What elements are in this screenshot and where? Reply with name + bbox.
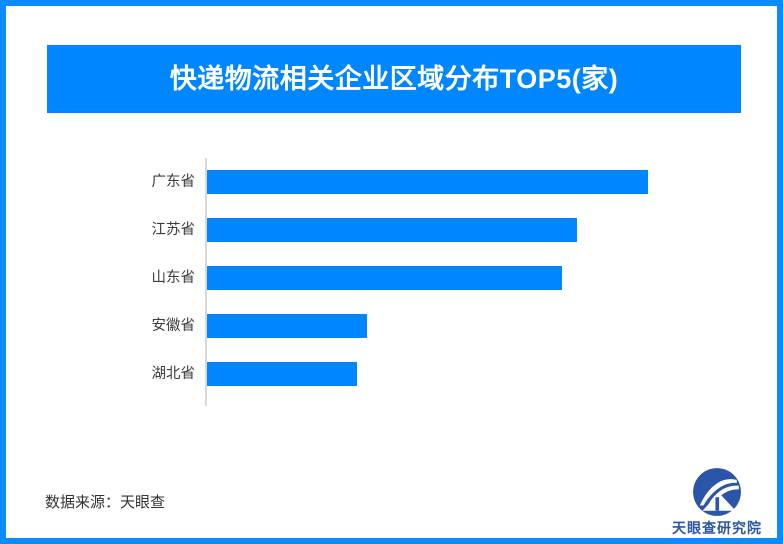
bar-jiangsu[interactable] (207, 218, 577, 242)
bar-track (207, 362, 727, 386)
data-source-label: 数据来源：天眼查 (45, 495, 165, 510)
bar-anhui[interactable] (207, 314, 367, 338)
bar-shandong[interactable] (207, 266, 562, 290)
brand-logo-text: 天眼查研究院 (672, 521, 762, 535)
bar-row[interactable]: 江苏省 (53, 206, 733, 254)
chart-title-banner: 快递物流相关企业区域分布TOP5(家) (47, 45, 741, 113)
bar-track (207, 314, 727, 338)
bar-track (207, 266, 727, 290)
bar-category-label: 广东省 (53, 175, 195, 190)
infographic-card: 快递物流相关企业区域分布TOP5(家) 广东省 江苏省 山东省 (0, 0, 783, 544)
bar-row[interactable]: 安徽省 (53, 302, 733, 350)
bar-chart: 广东省 江苏省 山东省 安徽省 (53, 146, 733, 421)
bar-category-label: 江苏省 (53, 223, 195, 238)
bar-category-label: 安徽省 (53, 319, 195, 334)
tianyancha-eye-icon (691, 466, 743, 518)
bar-hubei[interactable] (207, 362, 357, 386)
brand-logo: 天眼查研究院 (662, 466, 772, 535)
bar-category-label: 湖北省 (53, 367, 195, 382)
bar-category-label: 山东省 (53, 271, 195, 286)
bar-track (207, 218, 727, 242)
bar-row[interactable]: 湖北省 (53, 350, 733, 398)
bar-guangdong[interactable] (207, 170, 648, 194)
bar-row[interactable]: 山东省 (53, 254, 733, 302)
bar-track (207, 170, 727, 194)
bar-rows: 广东省 江苏省 山东省 安徽省 (53, 158, 733, 398)
bar-row[interactable]: 广东省 (53, 158, 733, 206)
page-title: 快递物流相关企业区域分布TOP5(家) (170, 66, 619, 93)
